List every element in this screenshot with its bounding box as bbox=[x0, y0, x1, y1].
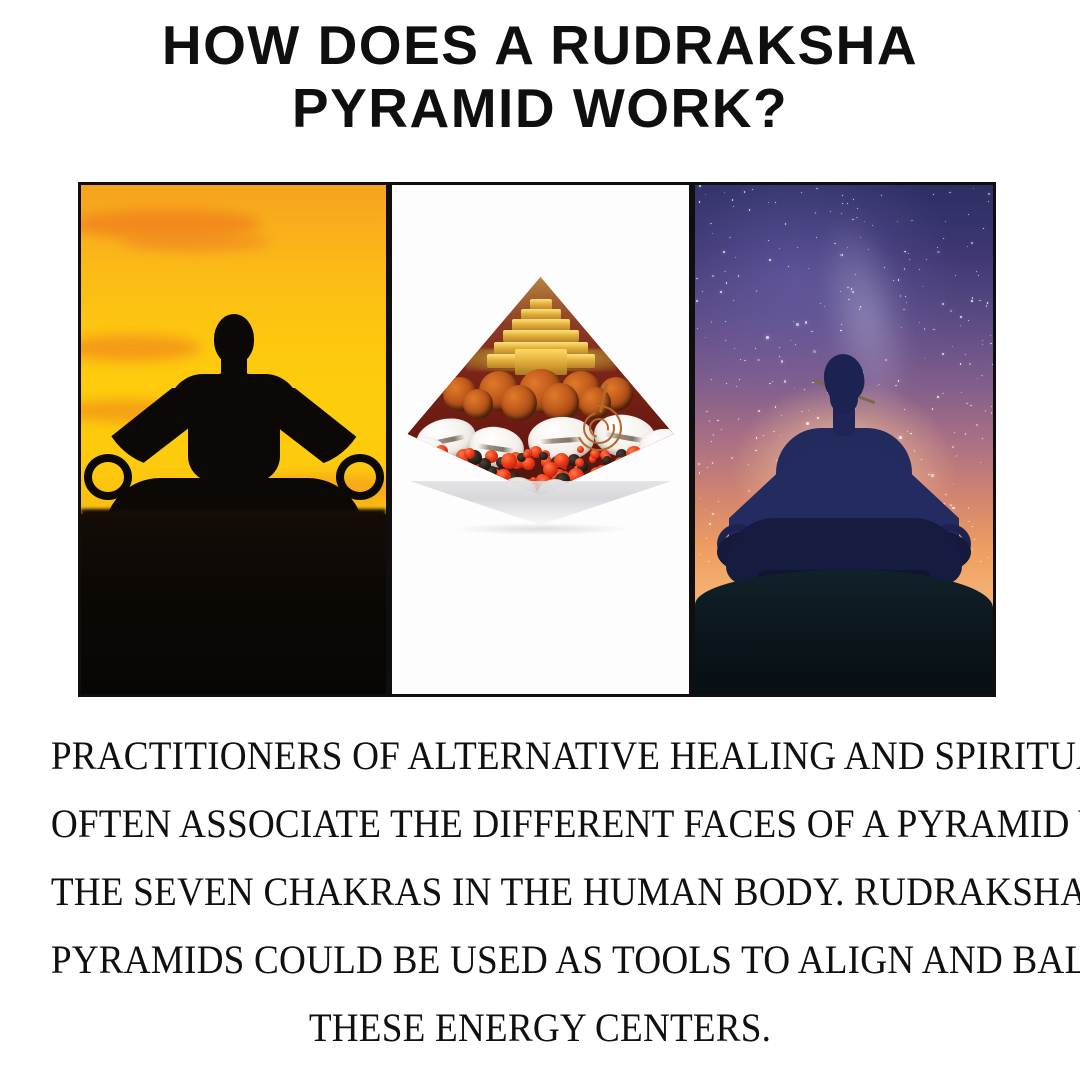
head bbox=[214, 314, 254, 364]
ground-silhouette bbox=[81, 514, 386, 694]
image-panel-sunset-meditation bbox=[78, 182, 389, 697]
meditating-man-silhouette bbox=[84, 314, 384, 534]
image-strip bbox=[78, 182, 996, 697]
hill-silhouette bbox=[695, 570, 993, 694]
title-line-2: PYRAMID WORK? bbox=[0, 77, 1080, 140]
meditating-woman-silhouette bbox=[715, 354, 973, 590]
body-line: OFTEN ASSOCIATE THE DIFFERENT FACES OF A… bbox=[51, 790, 1029, 858]
body-line: PYRAMIDS COULD BE USED AS TOOLS TO ALIGN… bbox=[51, 926, 1029, 994]
body-paragraph: PRACTITIONERS OF ALTERNATIVE HEALING AND… bbox=[14, 722, 1066, 1062]
page-title: HOW DOES A RUDRAKSHA PYRAMID WORK? bbox=[0, 14, 1080, 140]
body-line: PRACTITIONERS OF ALTERNATIVE HEALING AND… bbox=[51, 722, 1029, 790]
torso bbox=[188, 372, 280, 482]
yantra-tier bbox=[503, 330, 579, 342]
image-panel-cosmic-meditation bbox=[692, 182, 996, 697]
title-line-1: HOW DOES A RUDRAKSHA bbox=[0, 14, 1080, 77]
cloud bbox=[121, 233, 271, 251]
body-line: THESE ENERGY CENTERS. bbox=[51, 994, 1029, 1062]
copper-spiral-coil bbox=[576, 405, 622, 451]
shree-yantra-gold bbox=[487, 299, 595, 377]
body-line: THE SEVEN CHAKRAS IN THE HUMAN BODY. RUD… bbox=[51, 858, 1029, 926]
pyramid-resin-body bbox=[408, 277, 674, 495]
rudraksha-pyramid bbox=[408, 277, 674, 527]
poster: HOW DOES A RUDRAKSHA PYRAMID WORK? bbox=[0, 0, 1080, 1080]
image-panel-rudraksha-pyramid bbox=[389, 182, 692, 697]
product-shadow bbox=[451, 523, 631, 535]
pyramid-clear-base bbox=[410, 481, 672, 525]
